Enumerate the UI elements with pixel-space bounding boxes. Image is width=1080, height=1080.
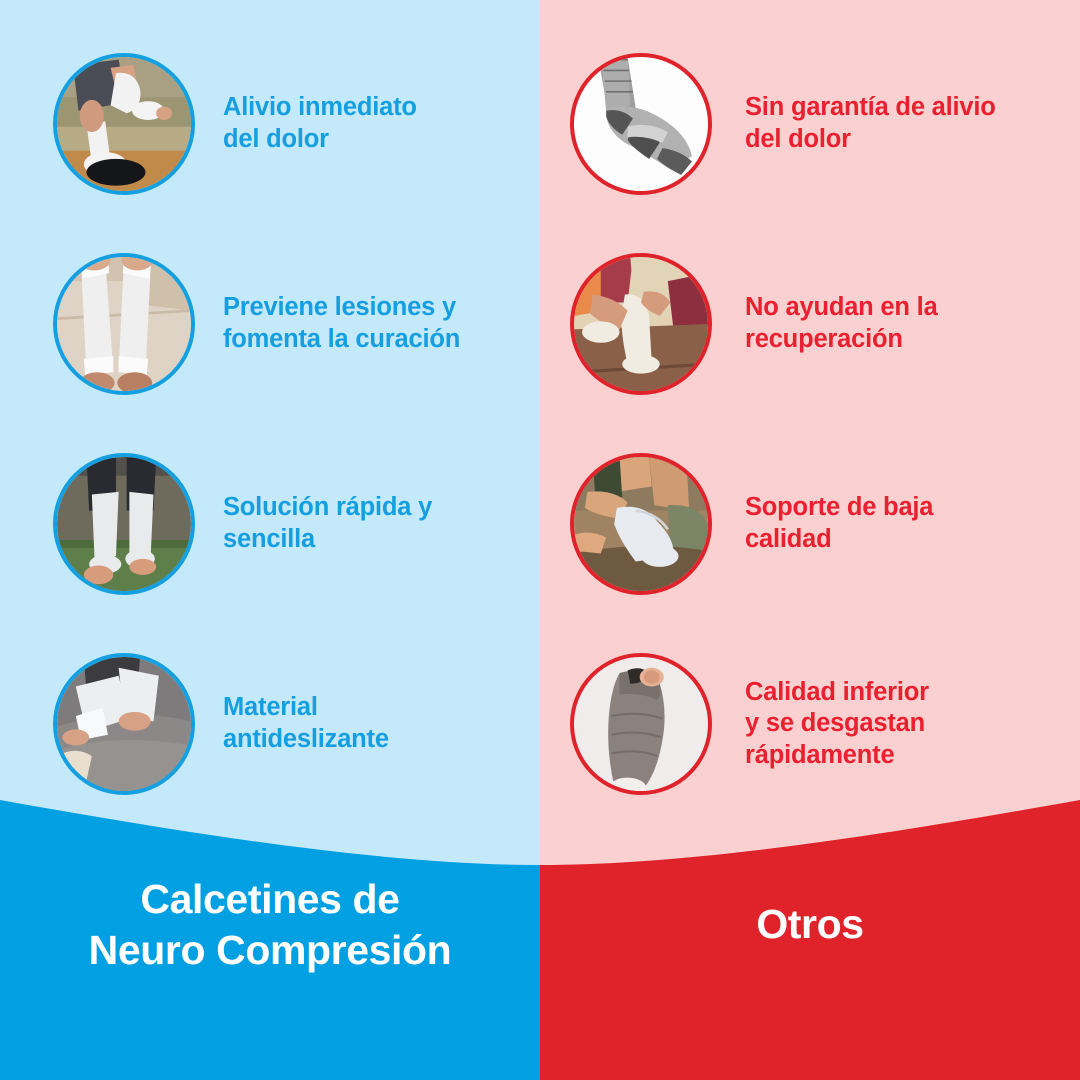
left-feature-image-4 (53, 653, 195, 795)
right-feature-image-2 (570, 253, 712, 395)
left-feature-label-1: Alivio inmediato del dolor (223, 92, 417, 155)
right-feature-label-3: Soporte de baja calidad (745, 492, 933, 555)
right-feature-image-4 (570, 653, 712, 795)
right-feature-image-3 (570, 453, 712, 595)
right-feature-label-1: Sin garantía de alivio del dolor (745, 92, 996, 155)
right-feature-label-2: No ayudan en la recuperación (745, 292, 938, 355)
right-feature-row-3: Soporte de baja calidad (570, 453, 1070, 595)
right-feature-image-1 (570, 53, 712, 195)
feature-columns: Alivio inmediato del dolor (0, 0, 1080, 1080)
comparison-infographic: Calcetines de Neuro Compresión Otros (0, 0, 1080, 1080)
right-feature-row-2: No ayudan en la recuperación (570, 253, 1070, 395)
right-feature-row-4: Calidad inferior y se desgastan rápidame… (570, 653, 1070, 795)
left-feature-label-4: Material antideslizante (223, 692, 389, 755)
left-feature-row-4: Material antideslizante (53, 653, 553, 795)
left-feature-column: Alivio inmediato del dolor (0, 0, 540, 1080)
left-feature-image-2 (53, 253, 195, 395)
left-feature-label-3: Solución rápida y sencilla (223, 492, 432, 555)
right-feature-label-4: Calidad inferior y se desgastan rápidame… (745, 677, 929, 772)
right-feature-row-1: Sin garantía de alivio del dolor (570, 53, 1070, 195)
right-feature-column: Sin garantía de alivio del dolor (540, 0, 1080, 1080)
left-feature-image-1 (53, 53, 195, 195)
left-feature-image-3 (53, 453, 195, 595)
left-feature-row-1: Alivio inmediato del dolor (53, 53, 553, 195)
left-feature-row-2: Previene lesiones y fomenta la curación (53, 253, 553, 395)
left-feature-row-3: Solución rápida y sencilla (53, 453, 553, 595)
left-feature-label-2: Previene lesiones y fomenta la curación (223, 292, 460, 355)
